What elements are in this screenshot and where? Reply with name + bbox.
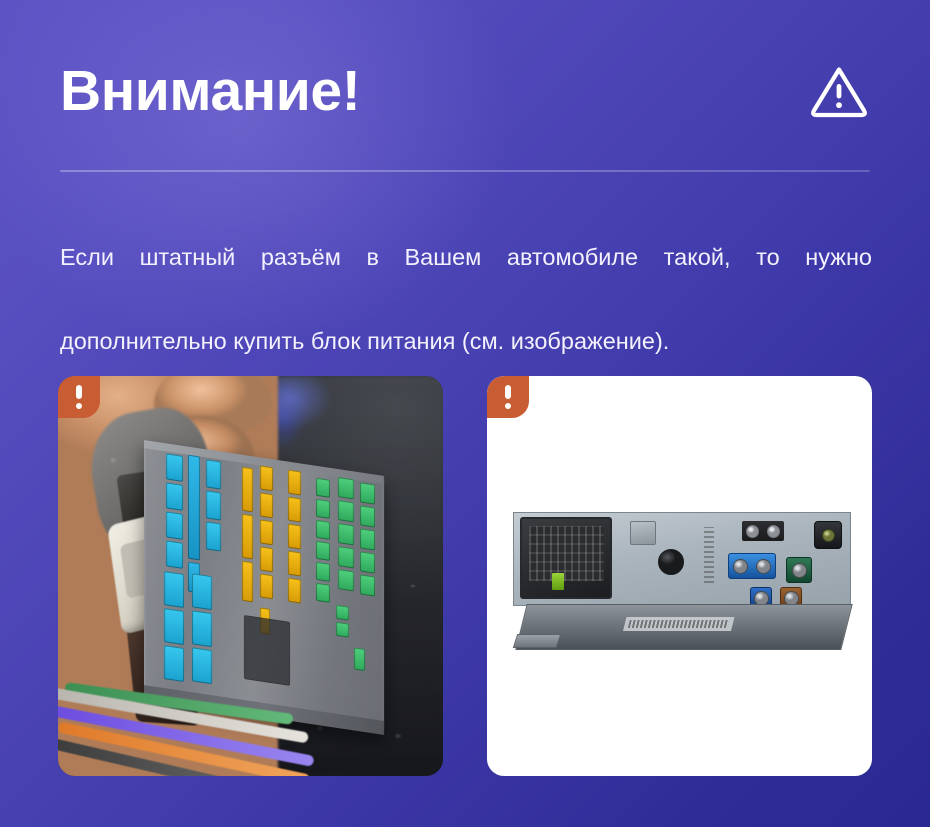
pin-group-cyan-4 bbox=[164, 571, 184, 682]
power-supply-module-card[interactable] bbox=[487, 376, 872, 776]
pin-group-green-5 bbox=[354, 647, 365, 671]
body-text-line-1: Если штатный разъём в Вашем автомобиле т… bbox=[60, 236, 872, 320]
pin-group-green-3 bbox=[360, 482, 375, 596]
oem-connector-card[interactable] bbox=[58, 376, 443, 776]
fakra-pin-1 bbox=[733, 559, 748, 574]
exclamation-dot bbox=[505, 403, 511, 409]
module-round-knob bbox=[658, 549, 684, 575]
pin-group-green-4 bbox=[336, 605, 349, 638]
module-front-panel bbox=[515, 604, 852, 650]
fakra-pin-green bbox=[792, 563, 807, 578]
slide-header: Внимание! bbox=[60, 52, 870, 130]
power-supply-module-photo bbox=[487, 376, 872, 776]
module-print-text bbox=[704, 527, 714, 583]
coax-connector-pair bbox=[742, 521, 784, 541]
fakra-pin-2 bbox=[756, 559, 771, 574]
exclamation-dot bbox=[76, 403, 82, 409]
fakra-connector-blue-double bbox=[728, 553, 776, 579]
exclamation-mark-icon bbox=[487, 376, 529, 418]
image-card-row bbox=[58, 376, 872, 776]
module-black-connector bbox=[520, 517, 612, 599]
page-title: Внимание! bbox=[60, 63, 360, 120]
coax-pin-left bbox=[746, 525, 759, 538]
oem-connector-photo bbox=[58, 376, 443, 776]
green-chip bbox=[552, 573, 564, 590]
pin-group-yellow-1 bbox=[242, 467, 253, 603]
pin-group-yellow-3 bbox=[288, 470, 301, 604]
pin-group-green-2 bbox=[338, 477, 354, 591]
fakra-pin-black bbox=[822, 529, 835, 542]
power-supply-module bbox=[513, 512, 851, 650]
connector-recess bbox=[244, 615, 290, 686]
module-top-housing bbox=[513, 512, 851, 606]
exclamation-stem bbox=[505, 385, 511, 399]
module-metal-tab bbox=[630, 521, 656, 545]
wire-harness bbox=[58, 690, 370, 776]
body-text-line-2: дополнительно купить блок питания (см. и… bbox=[60, 320, 872, 362]
header-divider bbox=[60, 170, 870, 172]
module-mounting-foot bbox=[513, 634, 562, 648]
warning-slide: Внимание! Если штатный разъём в Вашем ав… bbox=[0, 0, 930, 827]
exclamation-mark-icon bbox=[58, 376, 100, 418]
pin-group-cyan-1 bbox=[166, 453, 183, 569]
pin-group-green-1 bbox=[316, 478, 330, 603]
fakra-connector-black bbox=[814, 521, 842, 549]
pin-group-cyan-5 bbox=[192, 573, 212, 684]
pin-group-cyan-3 bbox=[206, 459, 221, 551]
fakra-connector-green bbox=[786, 557, 812, 583]
warning-triangle-icon bbox=[808, 60, 870, 122]
body-text: Если штатный разъём в Вашем автомобиле т… bbox=[60, 236, 872, 362]
coax-pin-right bbox=[767, 525, 780, 538]
exclamation-stem bbox=[76, 385, 82, 399]
module-sticker-label bbox=[623, 617, 734, 631]
pin-group-yellow-2 bbox=[260, 465, 273, 599]
